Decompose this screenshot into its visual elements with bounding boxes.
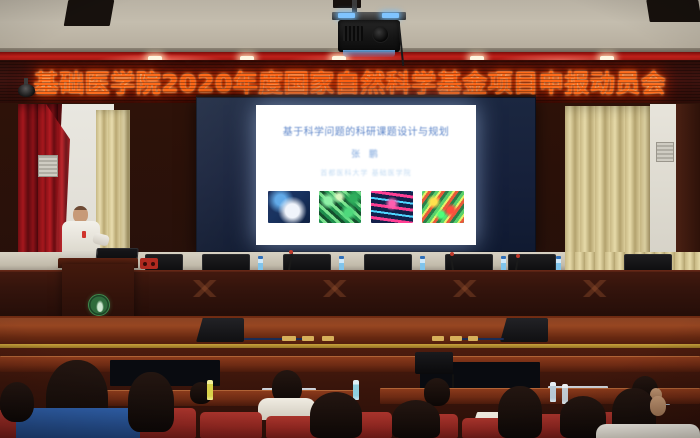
wall-vent [38, 155, 58, 177]
floor-tape-marker [432, 336, 444, 341]
presentation-slide: 基于科学问题的科研课题设计与规划 张 鹏 首都医科大学 基础医学院 [256, 105, 476, 245]
table-panel-motif [280, 280, 392, 297]
security-camera-icon [18, 84, 35, 97]
wall-speaker [415, 352, 453, 374]
bottle-cap [420, 256, 425, 259]
ceiling-panel [64, 0, 115, 26]
presenter-badge [82, 231, 86, 238]
floor-speaker-monitor [196, 318, 244, 342]
audience-head-foreground [498, 386, 542, 438]
audience-head [0, 382, 34, 422]
audience-shoulders [16, 408, 140, 438]
slide-title: 基于科学问题的科研课题设计与规划 [256, 123, 476, 138]
projector-underglow [343, 50, 395, 57]
floor-tape-marker [468, 336, 478, 341]
projector-lens [372, 26, 389, 43]
table-panel-motif [540, 280, 652, 297]
thumbnail-fluorescence-magenta [371, 191, 413, 223]
projector-vent [343, 26, 363, 41]
floor-speaker-monitor [500, 318, 548, 342]
slide-thumbnail-row [268, 189, 464, 225]
projector-led [338, 13, 355, 18]
thumbnail-fluorescence-multicolor [422, 191, 464, 223]
slide-affiliation: 首都医科大学 基础医学院 [256, 168, 476, 178]
audience-bottle [550, 382, 556, 402]
bottle-cap [339, 256, 344, 259]
audience-head-foreground [392, 400, 440, 438]
wall-vent [656, 142, 674, 162]
ceiling-panel [646, 0, 700, 22]
auditorium-seat [200, 412, 262, 438]
microphone-head [289, 250, 293, 254]
table-panel-motif [410, 280, 522, 297]
stage-cable [244, 338, 308, 340]
thumbnail-fluorescence-green [319, 191, 361, 223]
table-panel-motif [150, 280, 262, 297]
audience-head-foreground [128, 372, 174, 432]
projector-led [382, 13, 399, 18]
bottle-cap [556, 256, 561, 259]
speaker-cable [452, 374, 454, 388]
audience-face [650, 396, 666, 416]
microphone-head [516, 254, 520, 258]
slide-presenter-name: 张 鹏 [256, 147, 476, 160]
audience-shoulders [596, 424, 700, 438]
audience-bottle [353, 380, 359, 400]
audience-bottle [207, 380, 213, 400]
audience-head-foreground [310, 392, 362, 438]
power-socket [140, 258, 158, 269]
audience-desk-row [0, 356, 700, 372]
microphone-head [450, 252, 454, 256]
floor-tape-marker [282, 336, 296, 341]
bottle-cap [258, 256, 263, 259]
thumbnail-microscopy-blue [268, 191, 310, 223]
floor-tape-marker [302, 336, 314, 341]
auditorium-photo: 基础医学院2020年度国家自然科学基金项目申报动员会 基于科学问题的科研课题设计… [0, 0, 700, 438]
stage-floor-sheen [0, 318, 700, 346]
bottle-cap [501, 256, 506, 259]
university-emblem [88, 294, 110, 316]
floor-tape-marker [450, 336, 462, 341]
floor-tape-marker [322, 336, 334, 341]
